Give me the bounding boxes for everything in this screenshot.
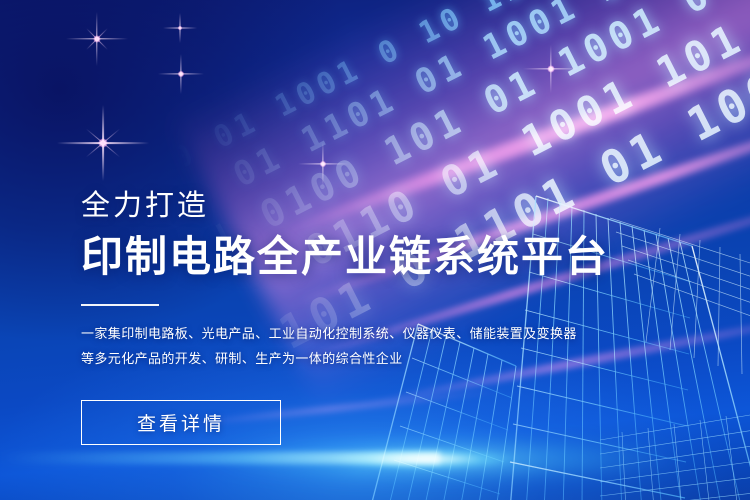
description-line-1: 一家集印制电路板、光电产品、工业自动化控制系统、仪器仪表、储能装置及变换器 — [81, 321, 701, 346]
view-details-button[interactable]: 查看详情 — [81, 400, 281, 445]
hero-banner: 10 01 1001 0 10 1101 0100 1 01 1101 01 1… — [0, 0, 750, 500]
light-burst-core — [330, 448, 520, 470]
banner-description: 一家集印制电路板、光电产品、工业自动化控制系统、仪器仪表、储能装置及变换器 等多… — [81, 321, 701, 372]
title-divider — [81, 304, 159, 306]
description-line-2: 等多元化产品的开发、研制、生产为一体的综合性企业 — [81, 346, 701, 371]
banner-content: 全力打造 印制电路全产业链系统平台 一家集印制电路板、光电产品、工业自动化控制系… — [81, 190, 701, 445]
banner-headline: 印制电路全产业链系统平台 — [81, 232, 701, 282]
banner-eyebrow: 全力打造 — [81, 190, 701, 223]
